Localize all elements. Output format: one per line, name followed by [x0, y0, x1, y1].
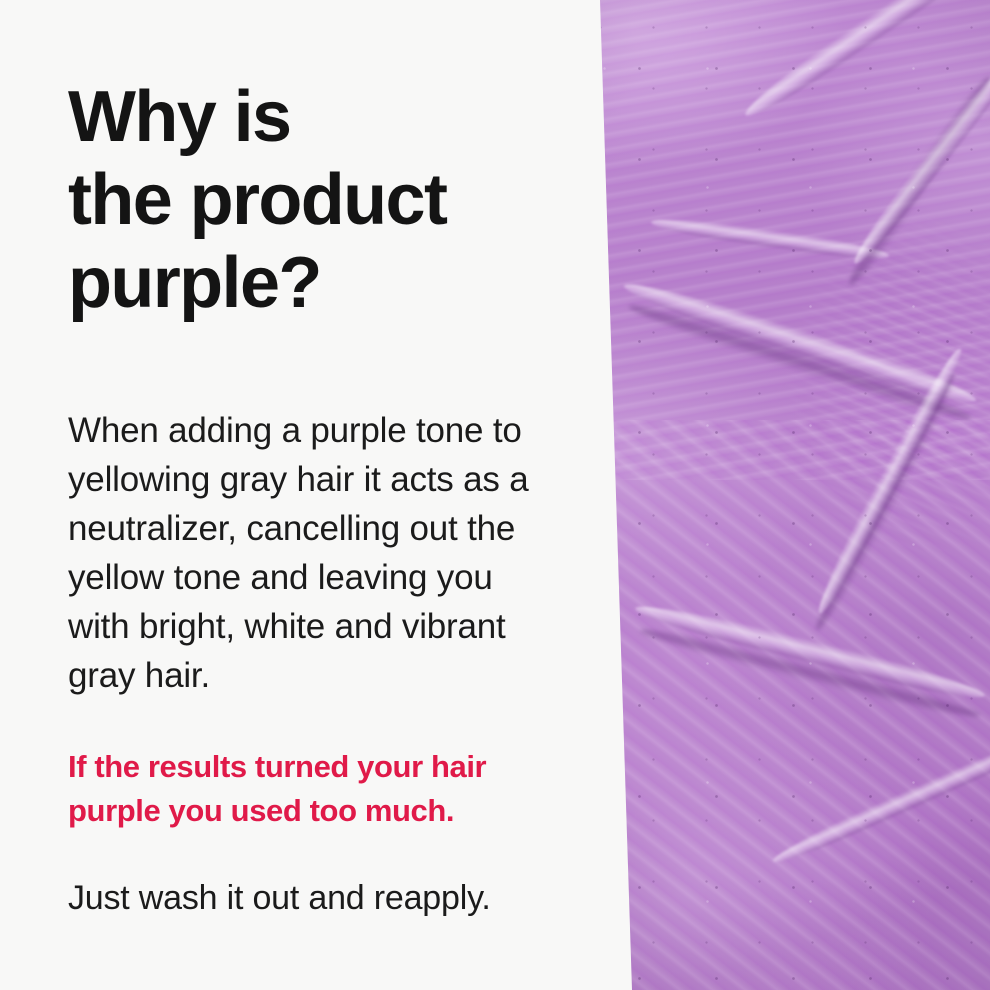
closing-paragraph: Just wash it out and reapply.: [68, 876, 588, 921]
alert-paragraph: If the results turned your hair purple y…: [68, 745, 588, 833]
infographic-card: Why is the product purple? When adding a…: [0, 0, 990, 990]
product-texture-image: [590, 0, 990, 990]
page-title: Why is the product purple?: [68, 76, 588, 325]
body-paragraph: When adding a purple tone to yellowing g…: [68, 406, 588, 700]
image-vignette: [590, 0, 990, 990]
text-panel: Why is the product purple? When adding a…: [0, 0, 600, 990]
